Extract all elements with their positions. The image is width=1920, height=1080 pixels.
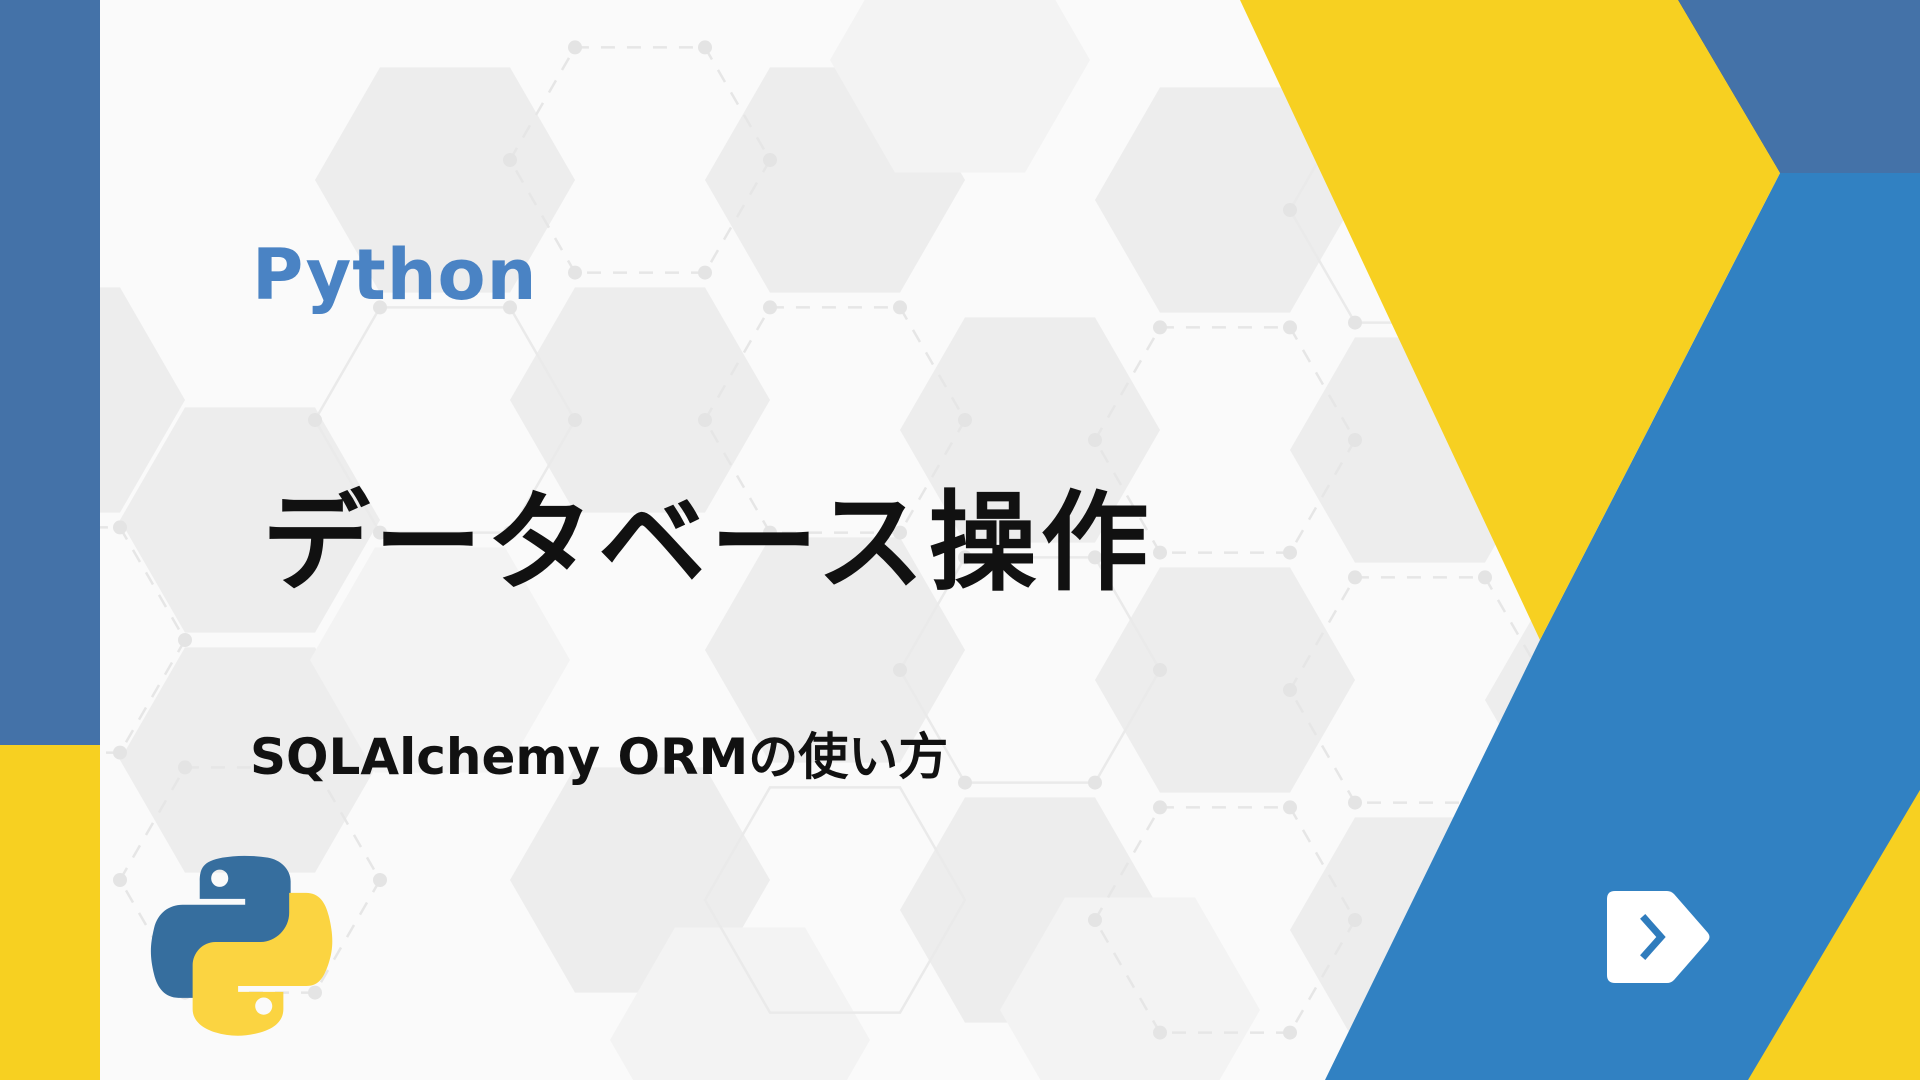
- left-bar-yellow-segment: [0, 745, 100, 1080]
- page-subtitle: SQLAlchemy ORMの使い方: [250, 730, 948, 785]
- language-label: Python: [252, 240, 537, 310]
- next-slide-badge[interactable]: [1607, 891, 1711, 983]
- python-logo-icon: [145, 850, 345, 1050]
- left-bar-blue-segment: [0, 0, 100, 745]
- page-title: データベース操作: [262, 487, 1153, 600]
- left-accent-bar: [0, 0, 100, 1080]
- slide-canvas: Python データベース操作 SQLAlchemy ORMの使い方: [0, 0, 1920, 1080]
